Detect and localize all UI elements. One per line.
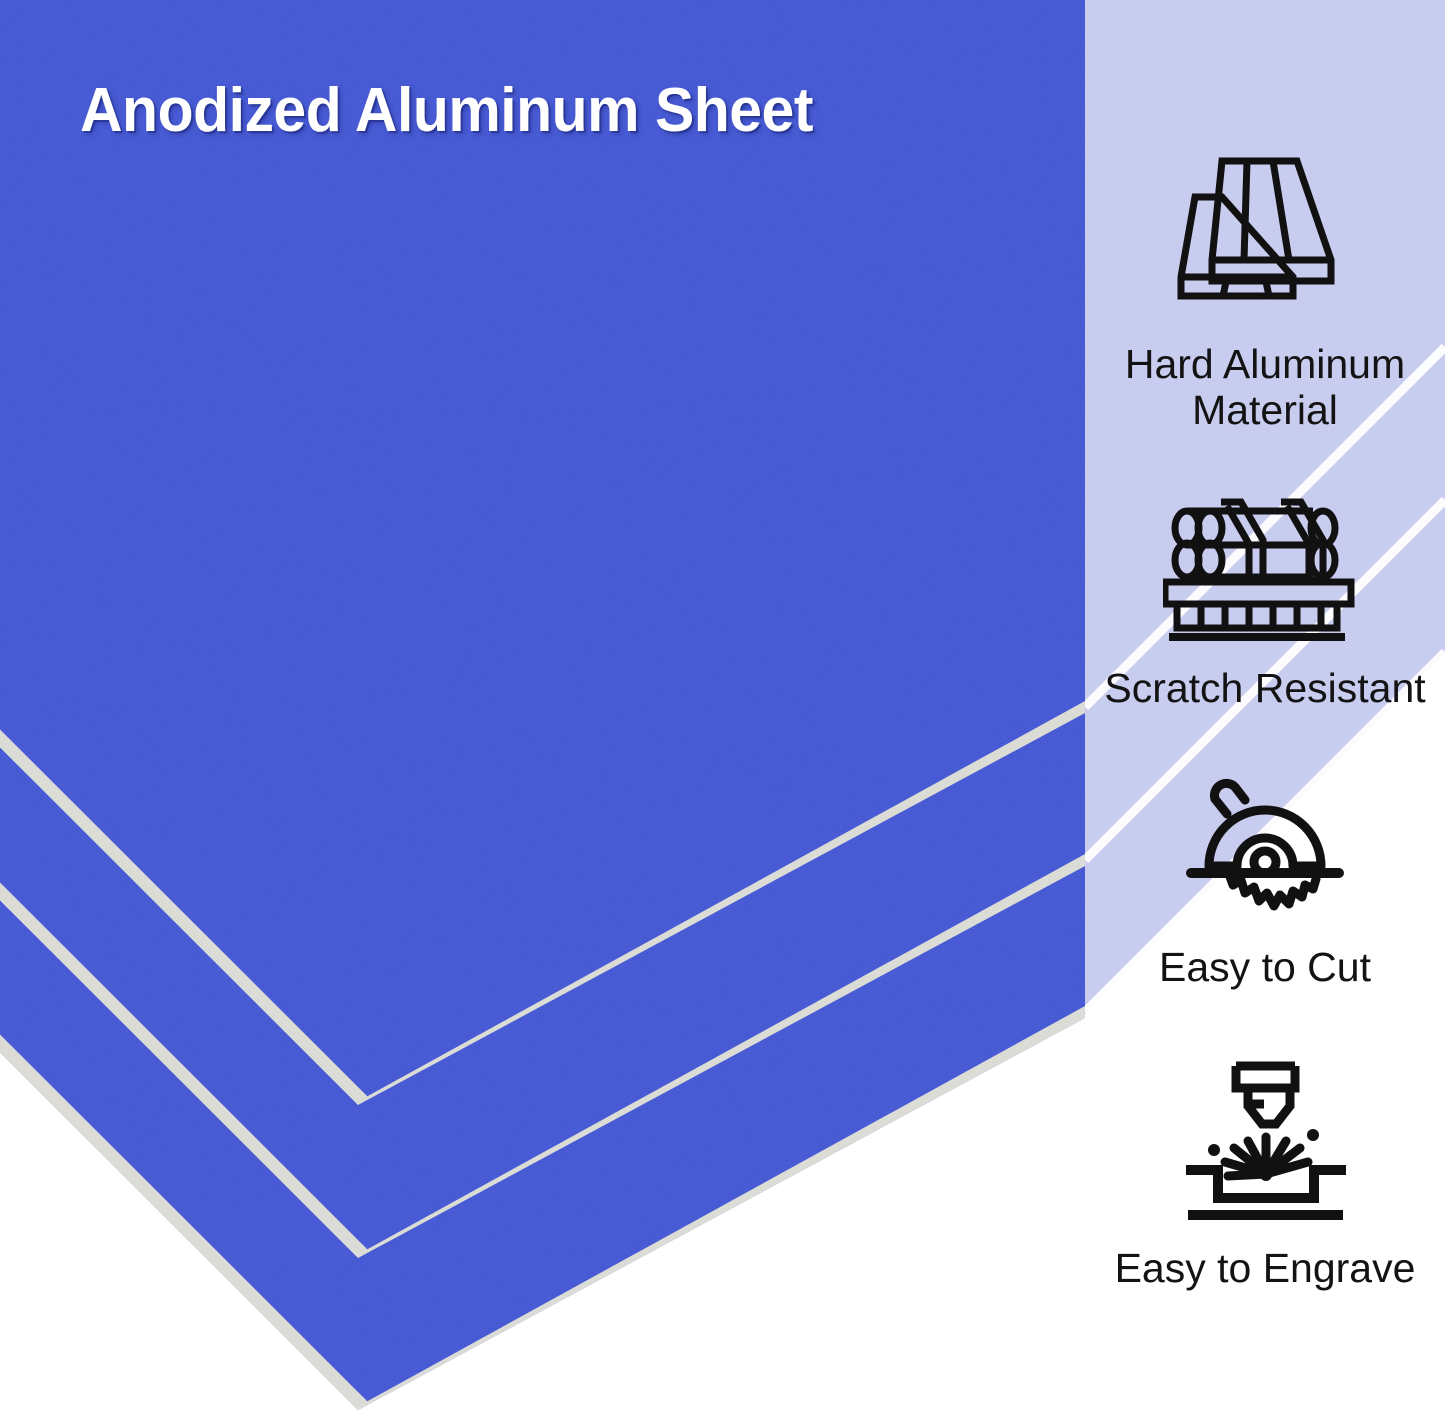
metal-profiles-stack-icon — [1163, 490, 1368, 645]
stacked-aluminum-sheets-icon — [1165, 150, 1365, 325]
feature-item-easy-to-cut: Easy to Cut — [1090, 778, 1440, 990]
feature-label: Scratch Resistant — [1090, 665, 1440, 711]
feature-label: Easy to Cut — [1090, 944, 1440, 990]
feature-item-hard-aluminum-material: Hard Aluminum Material — [1090, 150, 1440, 434]
feature-item-easy-to-engrave: Easy to Engrave — [1090, 1058, 1440, 1291]
product-infographic: Anodized Aluminum Sheet Hard Aluminum Ma… — [0, 0, 1445, 1410]
laser-engraver-head-icon — [1178, 1058, 1353, 1223]
feature-label: Easy to Engrave — [1090, 1245, 1440, 1291]
circular-saw-blade-icon — [1185, 778, 1345, 918]
feature-item-scratch-resistant: Scratch Resistant — [1090, 490, 1440, 711]
blue-sheet-stack — [0, 0, 1085, 1410]
feature-label: Hard Aluminum Material — [1090, 341, 1440, 434]
